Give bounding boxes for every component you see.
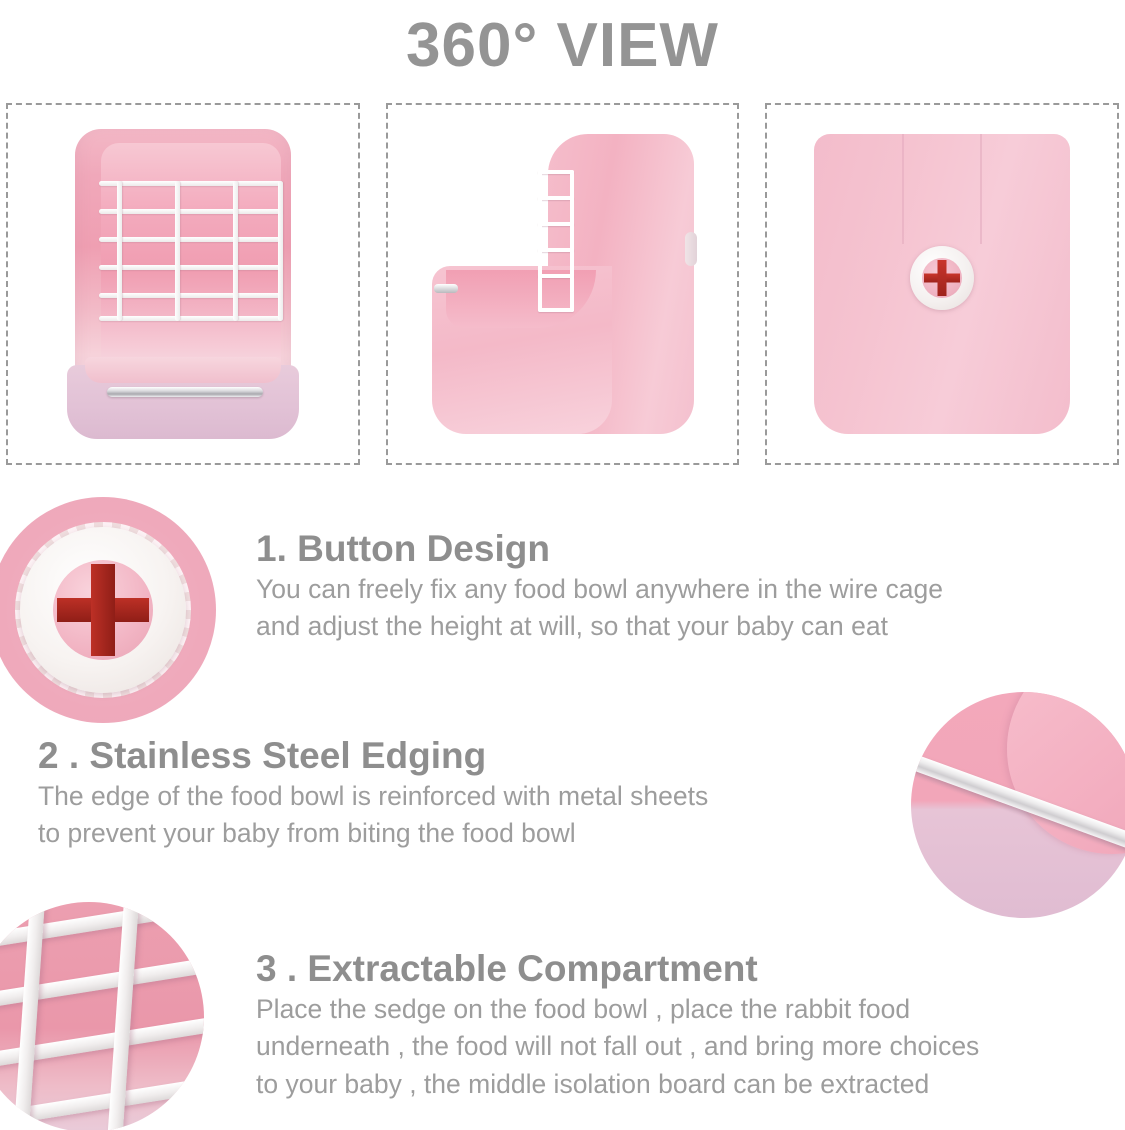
page-title: 360° VIEW — [406, 15, 719, 77]
feature-3-line-1: Place the sedge on the food bowl , place… — [256, 991, 979, 1029]
product-back-image — [814, 134, 1070, 434]
stainless-steel-strip — [107, 387, 263, 397]
bowl-lip — [85, 357, 281, 383]
bowl-body — [75, 129, 291, 391]
photo-steel-edging-closeup — [911, 692, 1125, 918]
feature-2-title: 2 . Stainless Steel Edging — [38, 735, 708, 778]
feature-2-line-2: to prevent your baby from biting the foo… — [38, 815, 708, 853]
photo-wire-grid-closeup — [0, 902, 204, 1130]
cross-button-icon — [910, 246, 974, 310]
page-title-bar: 360° VIEW — [0, 0, 1125, 92]
panel-front-view — [6, 103, 360, 465]
product-front-image — [67, 129, 299, 439]
feature-3-line-3: to your baby , the middle isolation boar… — [256, 1066, 979, 1104]
cross-vertical-bar — [938, 260, 947, 296]
wire-grid-side-icon — [538, 170, 574, 312]
bowl-back-shell — [814, 134, 1070, 434]
feature-2-body: The edge of the food bowl is reinforced … — [38, 778, 708, 853]
button-center — [53, 560, 153, 660]
feature-1-line-1: You can freely fix any food bowl anywher… — [256, 571, 943, 609]
cross-button-center — [922, 258, 962, 298]
feature-3-line-2: underneath , the food will not fall out … — [256, 1028, 979, 1066]
stainless-steel-strip-side — [434, 284, 458, 293]
feature-3-title: 3 . Extractable Compartment — [256, 948, 979, 991]
cross-vertical-bar — [91, 564, 115, 656]
panel-back-view — [765, 103, 1119, 465]
product-infographic: 360° VIEW — [0, 0, 1125, 1130]
feature-2-line-1: The edge of the food bowl is reinforced … — [38, 778, 708, 816]
feature-1-body: You can freely fix any food bowl anywher… — [256, 571, 943, 646]
wire-grid-icon — [99, 181, 283, 321]
panel-side-view — [386, 103, 740, 465]
feature-1-title: 1. Button Design — [256, 528, 943, 571]
feature-1-line-2: and adjust the height at will, so that y… — [256, 608, 943, 646]
feature-3-body: Place the sedge on the food bowl , place… — [256, 991, 979, 1104]
button-knob-side — [685, 232, 697, 266]
photo-button-closeup — [0, 497, 216, 723]
gallery-panels — [6, 103, 1119, 465]
product-side-image — [432, 134, 694, 434]
